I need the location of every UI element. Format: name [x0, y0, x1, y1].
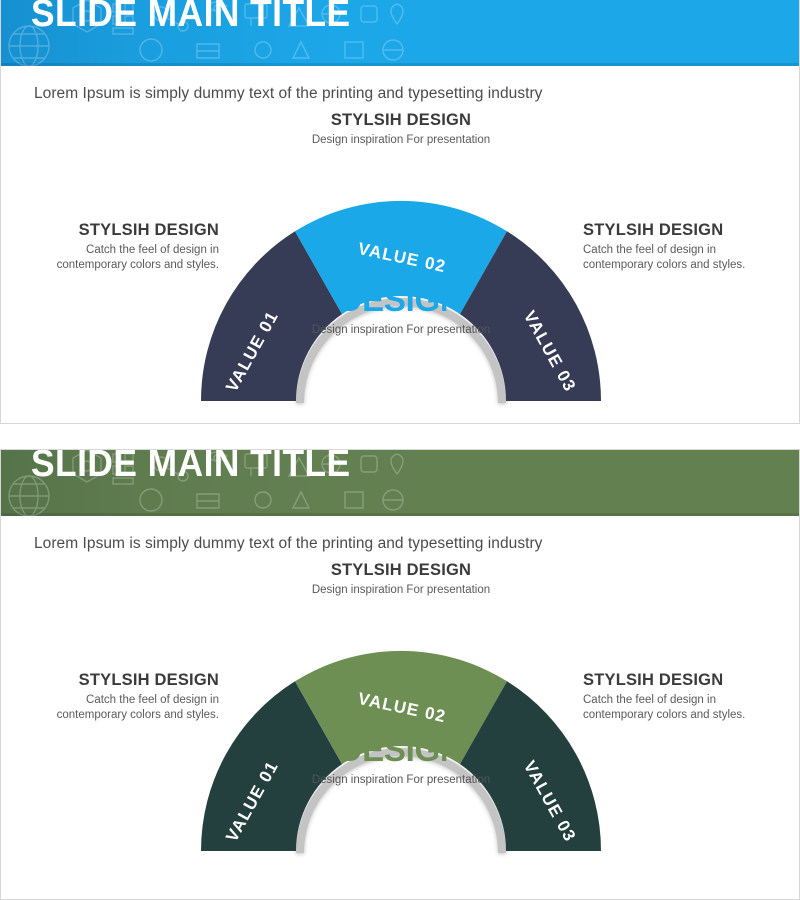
callout-right-heading: STYLSIH DESIGN	[583, 671, 783, 690]
callout-right-body: Catch the feel of design in contemporary…	[583, 693, 783, 723]
slide-subtitle: Lorem Ipsum is simply dummy text of the …	[1, 66, 799, 103]
callout-top-heading: STYLSIH DESIGN	[1, 561, 800, 580]
slide-title-text: SLIDE MAIN TITLE	[31, 450, 351, 483]
semi-donut-diagram-blue: VALUE 01 VALUE 02 VALUE 03 STYLSIH DESIG…	[1, 111, 800, 411]
callout-top-heading: STYLSIH DESIGN	[1, 111, 800, 130]
slide-header-band-green: SLIDE MAIN TITLE	[1, 450, 799, 516]
hub-title: DESIGN	[301, 733, 501, 766]
callout-top: STYLSIH DESIGN Design inspiration For pr…	[1, 561, 800, 598]
callout-top-body: Design inspiration For presentation	[1, 133, 800, 148]
semi-donut-diagram-green: VALUE 01 VALUE 02 VALUE 03 STYLSIH DESIG…	[1, 561, 800, 861]
slide-subtitle: Lorem Ipsum is simply dummy text of the …	[1, 516, 799, 553]
slide-green: SLIDE MAIN TITLE Lorem Ipsum is simply d…	[0, 449, 800, 900]
page-title: SLIDE MAIN TITLE	[31, 14, 375, 52]
page-root: SLIDE MAIN TITLE Lorem Ipsum is simply d…	[0, 0, 800, 900]
callout-top-body: Design inspiration For presentation	[1, 583, 800, 598]
callout-left: STYLSIH DESIGN Catch the feel of design …	[19, 671, 219, 723]
page-title: SLIDE MAIN TITLE	[31, 464, 375, 502]
header-divider	[1, 513, 799, 516]
callout-left: STYLSIH DESIGN Catch the feel of design …	[19, 221, 219, 273]
hub-subtitle: Design inspiration For presentation	[301, 323, 501, 338]
donut-hub: DESIGN Design inspiration For presentati…	[301, 733, 501, 788]
callout-left-body: Catch the feel of design in contemporary…	[19, 243, 219, 273]
callout-left-heading: STYLSIH DESIGN	[19, 671, 219, 690]
header-divider	[1, 63, 799, 66]
slide-title-text: SLIDE MAIN TITLE	[31, 0, 351, 33]
callout-top: STYLSIH DESIGN Design inspiration For pr…	[1, 111, 800, 148]
callout-right: STYLSIH DESIGN Catch the feel of design …	[583, 221, 783, 273]
callout-left-body: Catch the feel of design in contemporary…	[19, 693, 219, 723]
callout-right: STYLSIH DESIGN Catch the feel of design …	[583, 671, 783, 723]
callout-left-heading: STYLSIH DESIGN	[19, 221, 219, 240]
hub-subtitle: Design inspiration For presentation	[301, 773, 501, 788]
slide-header-band-blue: SLIDE MAIN TITLE	[1, 0, 799, 66]
callout-right-heading: STYLSIH DESIGN	[583, 221, 783, 240]
slide-blue: SLIDE MAIN TITLE Lorem Ipsum is simply d…	[0, 0, 800, 424]
donut-hub: DESIGN Design inspiration For presentati…	[301, 283, 501, 338]
callout-right-body: Catch the feel of design in contemporary…	[583, 243, 783, 273]
hub-title: DESIGN	[301, 283, 501, 316]
